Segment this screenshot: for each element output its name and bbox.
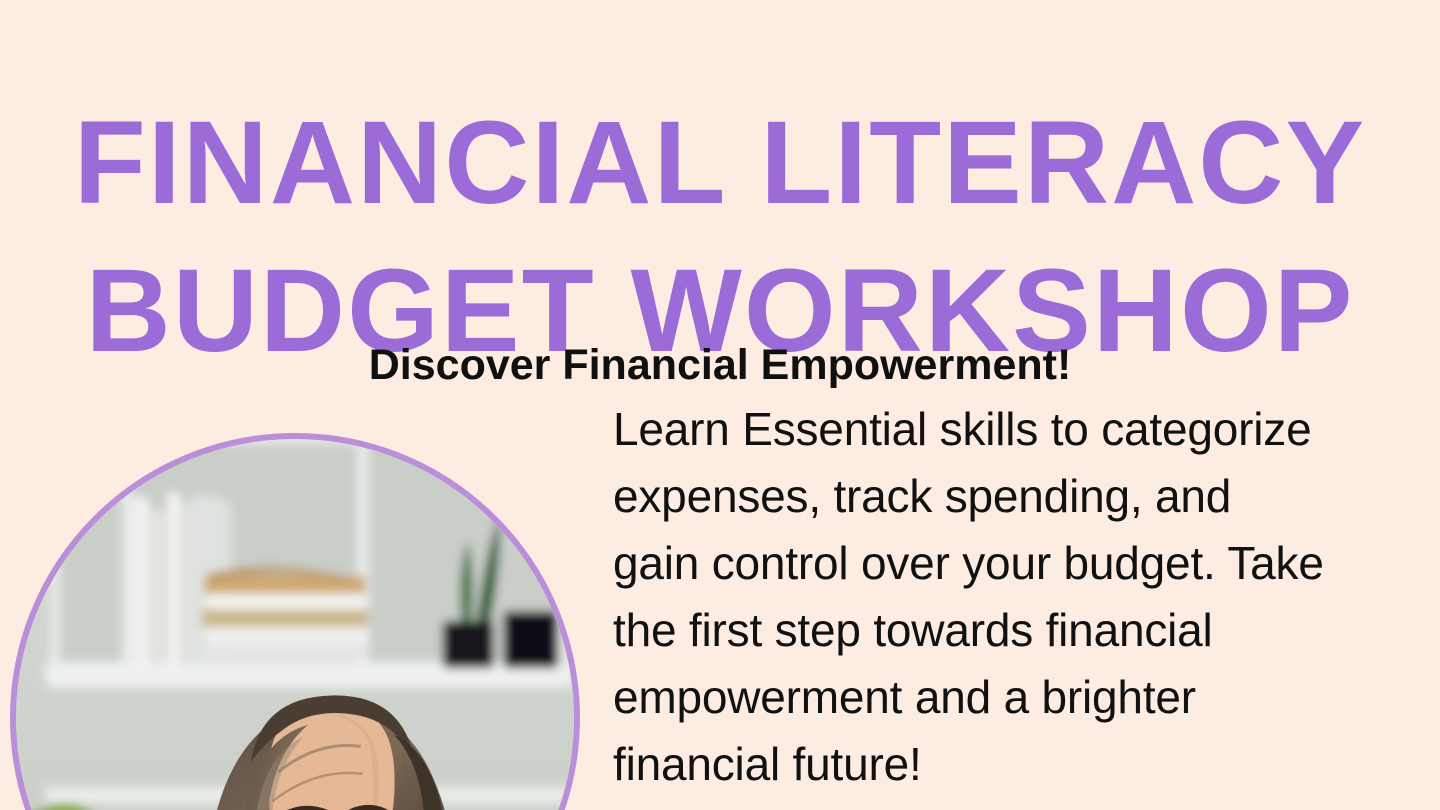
body-line: empowerment and a brighter (613, 664, 1413, 731)
body-line: expenses, track spending, and (613, 463, 1413, 530)
headline-line-1: FINANCIAL LITERACY (0, 89, 1440, 237)
body-line: gain control over your budget. Take (613, 530, 1413, 597)
page-subtitle: Discover Financial Empowerment! (0, 339, 1440, 391)
body-line: Learn Essential skills to categorize (613, 396, 1413, 463)
body-paragraph: Learn Essential skills to categorize exp… (613, 396, 1413, 798)
body-line: financial future! (613, 731, 1413, 798)
workshop-photo (10, 433, 580, 810)
body-line: the first step towards financial (613, 597, 1413, 664)
photo-image (16, 439, 574, 810)
poster-canvas: FINANCIAL LITERACY BUDGET WORKSHOP Disco… (0, 0, 1440, 810)
photo-illustration (16, 439, 574, 810)
